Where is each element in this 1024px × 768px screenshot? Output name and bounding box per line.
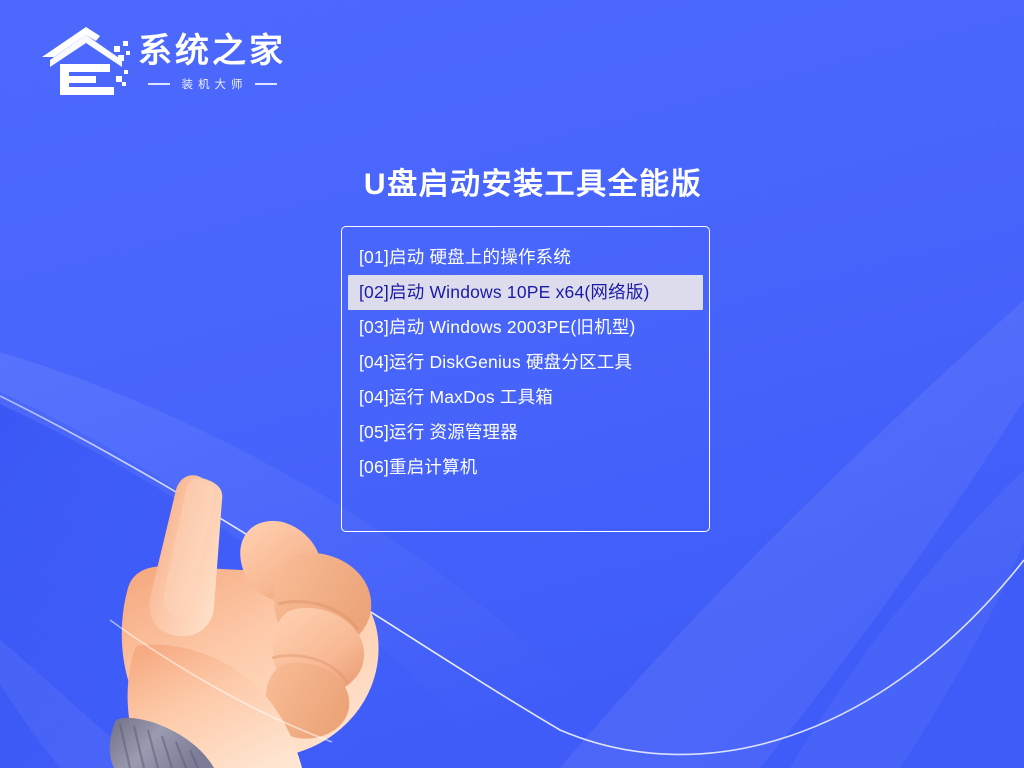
menu-item-03[interactable]: [03]启动 Windows 2003PE(旧机型) xyxy=(348,310,703,345)
subtitle-dash-right xyxy=(255,83,277,85)
boot-menu-screen: 系统之家 装机大师 U盘启动安装工具全能版 [01]启动 硬盘上的操作系统 [0… xyxy=(0,0,1024,768)
subtitle-dash-left xyxy=(148,83,170,85)
menu-item-05[interactable]: [05]运行 资源管理器 xyxy=(348,415,703,450)
pointing-hand-illustration xyxy=(96,470,426,768)
menu-item-02[interactable]: [02]启动 Windows 10PE x64(网络版) xyxy=(348,275,703,310)
house-pixel-logo-icon xyxy=(36,24,132,102)
brand-subtitle: 装机大师 xyxy=(177,76,248,92)
brand-title: 系统之家 xyxy=(138,34,286,70)
brand-subtitle-row: 装机大师 xyxy=(148,76,277,92)
brand-logo: 系统之家 装机大师 xyxy=(36,18,306,108)
menu-item-01[interactable]: [01]启动 硬盘上的操作系统 xyxy=(348,240,703,275)
menu-item-04-diskgenius[interactable]: [04]运行 DiskGenius 硬盘分区工具 xyxy=(348,345,703,380)
menu-item-04-maxdos[interactable]: [04]运行 MaxDos 工具箱 xyxy=(348,380,703,415)
page-title: U盘启动安装工具全能版 xyxy=(0,159,1024,203)
